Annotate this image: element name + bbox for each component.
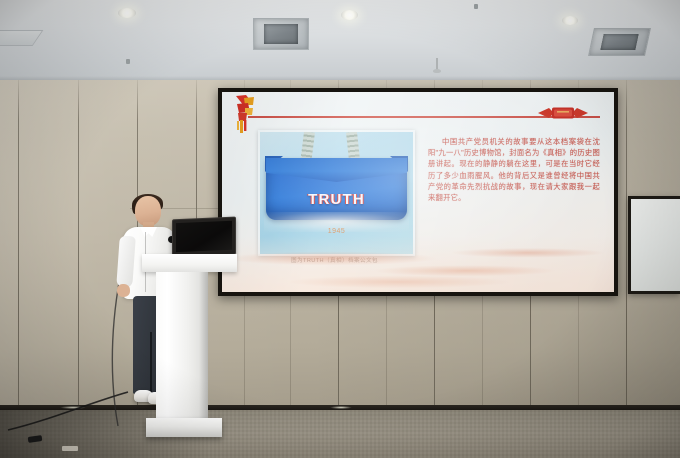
bag-small-tag: 1945 xyxy=(260,228,413,235)
floor-paper-scrap xyxy=(62,446,78,451)
laptop-screen xyxy=(176,221,232,252)
wall-panel-seam xyxy=(18,80,19,414)
sprinkler-head-left xyxy=(126,59,130,64)
laptop-lid xyxy=(172,217,236,258)
downlight-2 xyxy=(341,10,358,20)
ceiling-drop-rod xyxy=(436,58,438,70)
ceiling xyxy=(0,0,680,86)
blue-canvas-bag: TRUTH xyxy=(266,158,407,220)
presentation-slide: TRUTH 1945 图为TRUTH（真相）档案公文包 中国共产党员机关的故事要… xyxy=(222,92,614,292)
speaker-podium xyxy=(142,254,237,440)
wall-whiteboard[interactable] xyxy=(628,196,680,294)
ceiling-vent-center xyxy=(253,18,309,50)
bag-truth-text: TRUTH xyxy=(266,191,407,208)
presenter-hand xyxy=(117,284,130,297)
downlight-1 xyxy=(118,8,136,18)
podium-top-surface xyxy=(142,254,237,272)
podium-column xyxy=(156,272,208,422)
baseboard-glint-mid xyxy=(330,406,352,409)
podium-base xyxy=(146,418,222,437)
slide-body-text: 中国共产党员机关的故事要从这本档案袋在沈阳"九一八"历史博物馆，封面名为《真相》… xyxy=(428,136,600,203)
bag-flap xyxy=(266,158,407,182)
slide-brush-decoration xyxy=(222,236,614,292)
downlight-3 xyxy=(562,16,578,25)
vent-louvers xyxy=(600,34,639,51)
wall-panel-seam xyxy=(626,80,627,414)
wall-panel-seam xyxy=(78,80,79,414)
chinese-knot-tassel-icon xyxy=(232,94,258,136)
projection-screen[interactable]: TRUTH 1945 图为TRUTH（真相）档案公文包 中国共产党员机关的故事要… xyxy=(218,88,618,296)
vent-louvers xyxy=(264,24,299,43)
ceiling-vent-left-slim xyxy=(0,30,43,46)
whiteboard-surface xyxy=(631,199,680,291)
sprinkler-head-right xyxy=(474,4,478,9)
red-ribbon-banner-icon xyxy=(538,104,588,122)
conference-room-photo: TRUTH 1945 图为TRUTH（真相）档案公文包 中国共产党员机关的故事要… xyxy=(0,0,680,458)
presenter-laptop[interactable] xyxy=(172,217,234,260)
ceiling-vent-right xyxy=(588,28,651,56)
screen-surface: TRUTH 1945 图为TRUTH（真相）档案公文包 中国共产党员机关的故事要… xyxy=(222,92,614,292)
